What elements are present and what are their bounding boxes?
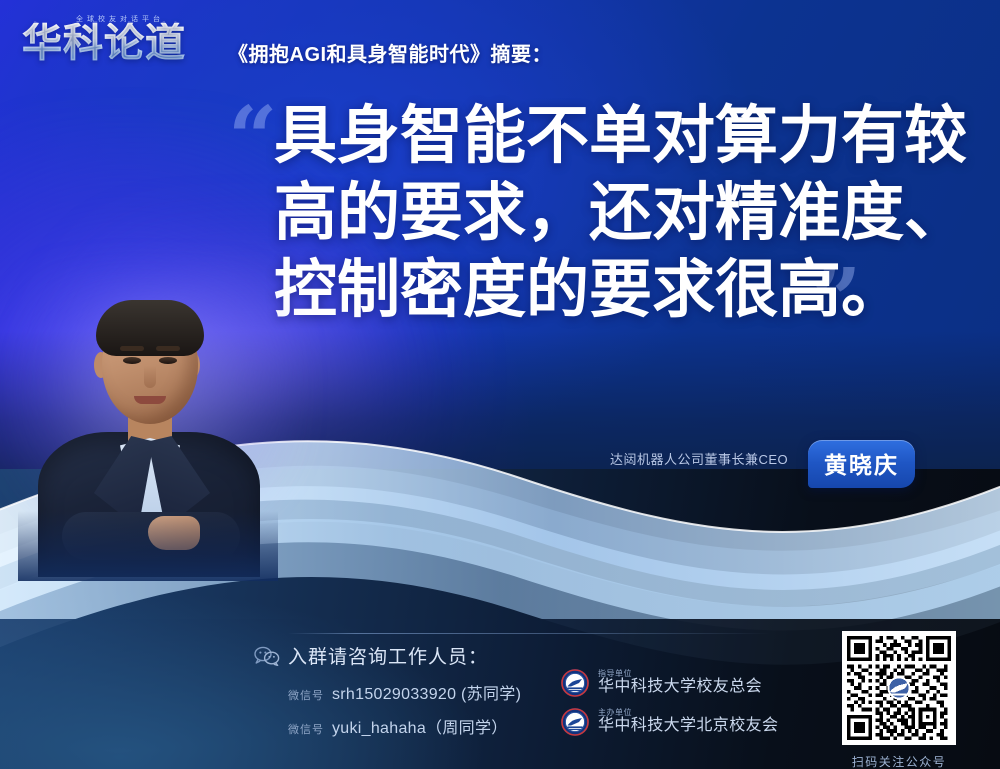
brand-logo[interactable]: 全球校友对话平台 华科论道 bbox=[22, 14, 218, 72]
quote-text: 具身智能不单对算力有较 高的要求，还对精准度、 控制密度的要求很高。 bbox=[274, 98, 964, 329]
speaker-role: 达闼机器人公司董事长兼CEO bbox=[610, 449, 788, 468]
portrait-bottom-fade bbox=[18, 511, 278, 581]
portrait-mouth bbox=[134, 396, 166, 404]
portrait-hair bbox=[96, 300, 204, 356]
footer-divider bbox=[288, 633, 772, 634]
qr-caption: 扫码关注公众号 bbox=[835, 753, 963, 769]
portrait-nose bbox=[144, 366, 156, 388]
portrait-eye-right bbox=[159, 357, 177, 364]
organization-row: 主办单位 华中科技大学北京校友会 bbox=[560, 707, 778, 737]
quote-line: 高的要求，还对精准度、 bbox=[274, 175, 964, 252]
page-title: 《拥抱AGI和具身智能时代》摘要： bbox=[228, 38, 552, 67]
contact-block: 入群请咨询工作人员： 微信号 srh15029033920 (苏同学) 微信号 … bbox=[288, 642, 521, 748]
header: 全球校友对话平台 华科论道 《拥抱AGI和具身智能时代》摘要： bbox=[0, 0, 1000, 90]
qr-block: 扫码关注公众号 bbox=[835, 631, 963, 769]
poster-root: 全球校友对话平台 华科论道 《拥抱AGI和具身智能时代》摘要： “ ” 具身智能… bbox=[0, 0, 1000, 769]
university-seal-icon bbox=[560, 707, 590, 737]
wechat-value[interactable]: yuki_hahaha（周同学） bbox=[332, 714, 508, 738]
speaker-portrait bbox=[28, 300, 266, 575]
university-seal-icon bbox=[560, 668, 590, 698]
organization-text: 主办单位 华中科技大学北京校友会 bbox=[598, 709, 778, 735]
organization-row: 指导单位 华中科技大学校友总会 bbox=[560, 668, 778, 698]
quote-line: 具身智能不单对算力有较 bbox=[274, 98, 964, 175]
organizations-block: 指导单位 华中科技大学校友总会 主办单位 华中科技大学北京校友会 bbox=[560, 668, 778, 746]
portrait-brow-left bbox=[120, 346, 144, 351]
logo-wordmark: 华科论道 bbox=[22, 23, 218, 63]
contact-title: 入群请咨询工作人员： bbox=[288, 642, 521, 669]
qr-code[interactable] bbox=[842, 631, 956, 745]
organization-name: 华中科技大学北京校友会 bbox=[598, 718, 778, 735]
wechat-icon bbox=[254, 646, 280, 666]
speaker-name-badge: 黄晓庆 bbox=[808, 440, 915, 488]
portrait-eye-left bbox=[123, 357, 141, 364]
organization-name: 华中科技大学校友总会 bbox=[598, 679, 762, 696]
wechat-label: 微信号 bbox=[288, 721, 324, 737]
wechat-label: 微信号 bbox=[288, 687, 324, 703]
wechat-value[interactable]: srh15029033920 (苏同学) bbox=[332, 680, 521, 704]
quote-open-mark: “ bbox=[228, 96, 277, 182]
portrait-brow-right bbox=[156, 346, 180, 351]
wechat-row: 微信号 yuki_hahaha（周同学） bbox=[288, 714, 521, 738]
organization-text: 指导单位 华中科技大学校友总会 bbox=[598, 670, 762, 696]
wechat-row: 微信号 srh15029033920 (苏同学) bbox=[288, 680, 521, 704]
quote-line: 控制密度的要求很高。 bbox=[274, 252, 964, 329]
